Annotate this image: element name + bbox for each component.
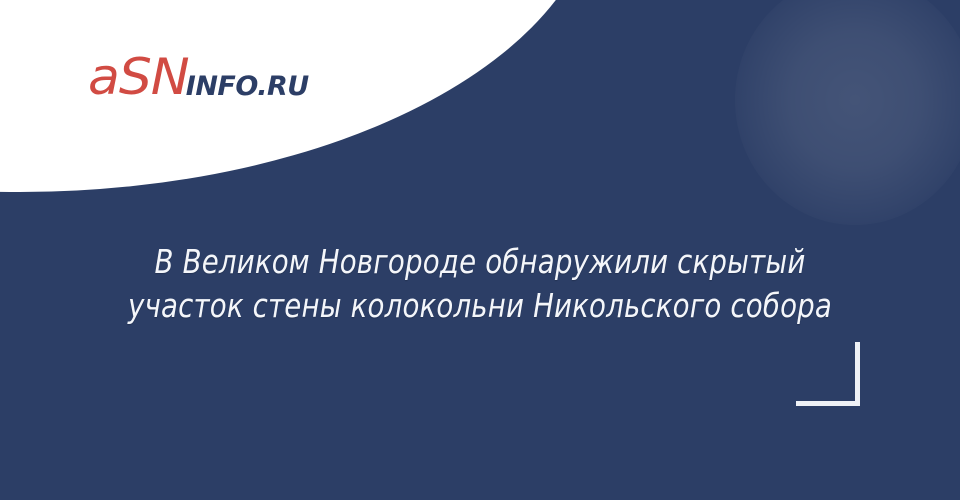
logo-info-ru-text: INFO.RU — [186, 73, 309, 100]
share-card: aSN INFO.RU В Великом Новгороде обнаружи… — [0, 0, 960, 500]
logo-asn-text: aSN — [88, 52, 189, 102]
radial-glow-decoration — [735, 0, 960, 225]
headline-title: В Великом Новгороде обнаружили скрытый у… — [99, 240, 862, 328]
bracket-horizontal-bar — [796, 401, 858, 406]
corner-bracket-icon — [796, 342, 860, 406]
bracket-vertical-bar — [855, 342, 860, 406]
asninfo-logo[interactable]: aSN INFO.RU — [88, 52, 309, 102]
